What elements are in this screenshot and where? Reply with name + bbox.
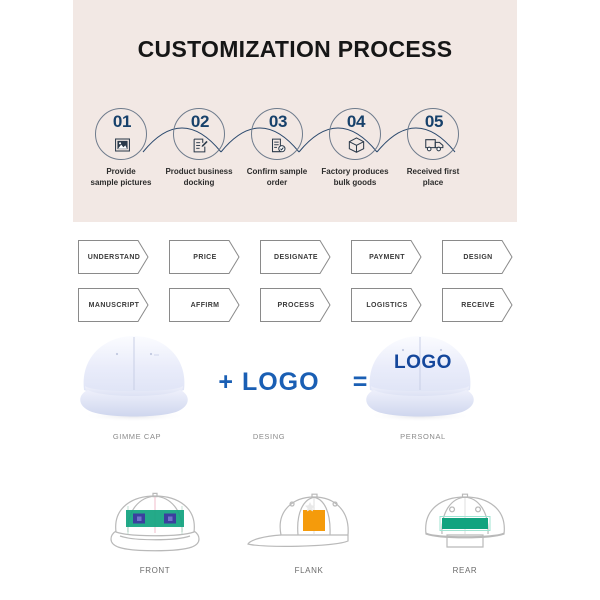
chevron-affirm-label: AFFIRM [169, 288, 241, 322]
chevron-understand[interactable]: UNDERSTAND [78, 240, 157, 274]
process-step-3: 03 Confirm sample order [233, 108, 321, 188]
chevron-designate[interactable]: DESIGNATE [260, 240, 339, 274]
step-1-label-line2: sample pictures [91, 178, 152, 187]
chevron-manuscript[interactable]: MANUSCRIPT [78, 288, 157, 322]
step-2-label-line2: docking [184, 178, 215, 187]
view-flank-label: FLANK [234, 566, 384, 575]
step-2-circle: 02 [173, 108, 225, 160]
step-5-label: Received first place [389, 167, 477, 188]
image-icon [96, 134, 148, 156]
step-2-label-line1: Product business [165, 167, 232, 176]
logo-cap-label: PERSONAL [348, 432, 498, 441]
step-5-label-line2: place [423, 178, 443, 187]
plus-logo-text: + LOGO [204, 368, 334, 397]
document-check-icon [252, 134, 304, 156]
step-4-circle: 04 [329, 108, 381, 160]
box-icon [330, 134, 382, 156]
blank-cap-label: GIMME CAP [62, 432, 212, 441]
process-step-5: 05 Received first place [389, 108, 477, 188]
delivery-truck-icon [408, 134, 460, 156]
chevron-logistics[interactable]: LOGISTICS [351, 288, 430, 322]
step-5-circle: 05 [407, 108, 459, 160]
process-step-1: 01 Provide sample pictures [77, 108, 165, 188]
view-rear: REAR [390, 488, 540, 575]
chevron-affirm[interactable]: AFFIRM [169, 288, 248, 322]
step-4-label-line2: bulk goods [334, 178, 377, 187]
desing-label: DESING [204, 432, 334, 441]
process-step-2: 02 Product business docking [155, 108, 243, 188]
step-1-label-line1: Provide [106, 167, 135, 176]
step-3-number: 03 [252, 112, 304, 132]
chevron-designate-label: DESIGNATE [260, 240, 332, 274]
chevron-price[interactable]: PRICE [169, 240, 248, 274]
cap-side-icon [234, 488, 384, 558]
chevron-stage-grid: UNDERSTAND PRICE DESIGNATE PAYMENT DESIG… [78, 240, 528, 322]
chevron-understand-label: UNDERSTAND [78, 240, 150, 274]
chevron-manuscript-label: MANUSCRIPT [78, 288, 150, 322]
view-rear-label: REAR [390, 566, 540, 575]
step-1-number: 01 [96, 112, 148, 132]
chevron-design[interactable]: DESIGN [442, 240, 521, 274]
process-steps: 01 Provide sample pictures [73, 108, 517, 208]
page-title: CUSTOMIZATION PROCESS [73, 36, 517, 63]
step-2-number: 02 [174, 112, 226, 132]
document-edit-icon [174, 134, 226, 156]
cap-rear-icon [390, 488, 540, 558]
step-4-number: 04 [330, 112, 382, 132]
step-4-label: Factory produces bulk goods [311, 167, 399, 188]
step-3-label-line1: Confirm sample [247, 167, 307, 176]
chevron-design-label: DESIGN [442, 240, 514, 274]
chevron-logistics-label: LOGISTICS [351, 288, 423, 322]
logo-equation-row: GIMME CAP + LOGO DESING = LOGO PERSONAL [0, 328, 600, 450]
hero-panel: CUSTOMIZATION PROCESS 01 [73, 0, 517, 222]
chevron-process-label: PROCESS [260, 288, 332, 322]
chevron-row-1: UNDERSTAND PRICE DESIGNATE PAYMENT DESIG… [78, 240, 528, 274]
step-5-number: 05 [408, 112, 460, 132]
print-placement-views: FRONT [0, 488, 600, 593]
step-3-label: Confirm sample order [233, 167, 321, 188]
chevron-price-label: PRICE [169, 240, 241, 274]
chevron-process[interactable]: PROCESS [260, 288, 339, 322]
logo-cap: LOGO PERSONAL [348, 328, 498, 423]
blank-cap: GIMME CAP [62, 328, 212, 423]
logo-cap-photo-icon [348, 328, 498, 423]
cap-logo-text: LOGO [348, 352, 498, 374]
view-front: FRONT [80, 488, 230, 575]
customization-process-infographic: CUSTOMIZATION PROCESS 01 [0, 0, 600, 600]
process-step-4: 04 Factory produces bulk goods [311, 108, 399, 188]
blank-cap-photo-icon [62, 328, 212, 423]
step-4-label-line1: Factory produces [321, 167, 388, 176]
step-1-label: Provide sample pictures [77, 167, 165, 188]
step-2-label: Product business docking [155, 167, 243, 188]
step-3-label-line2: order [267, 178, 287, 187]
chevron-payment-label: PAYMENT [351, 240, 423, 274]
view-front-label: FRONT [80, 566, 230, 575]
chevron-payment[interactable]: PAYMENT [351, 240, 430, 274]
chevron-receive[interactable]: RECEIVE [442, 288, 521, 322]
cap-front-icon [80, 488, 230, 558]
view-flank: FLANK [234, 488, 384, 575]
step-5-label-line1: Received first [407, 167, 459, 176]
step-1-circle: 01 [95, 108, 147, 160]
step-3-circle: 03 [251, 108, 303, 160]
chevron-row-2: MANUSCRIPT AFFIRM PROCESS LOGISTICS RECE… [78, 288, 528, 322]
chevron-receive-label: RECEIVE [442, 288, 514, 322]
